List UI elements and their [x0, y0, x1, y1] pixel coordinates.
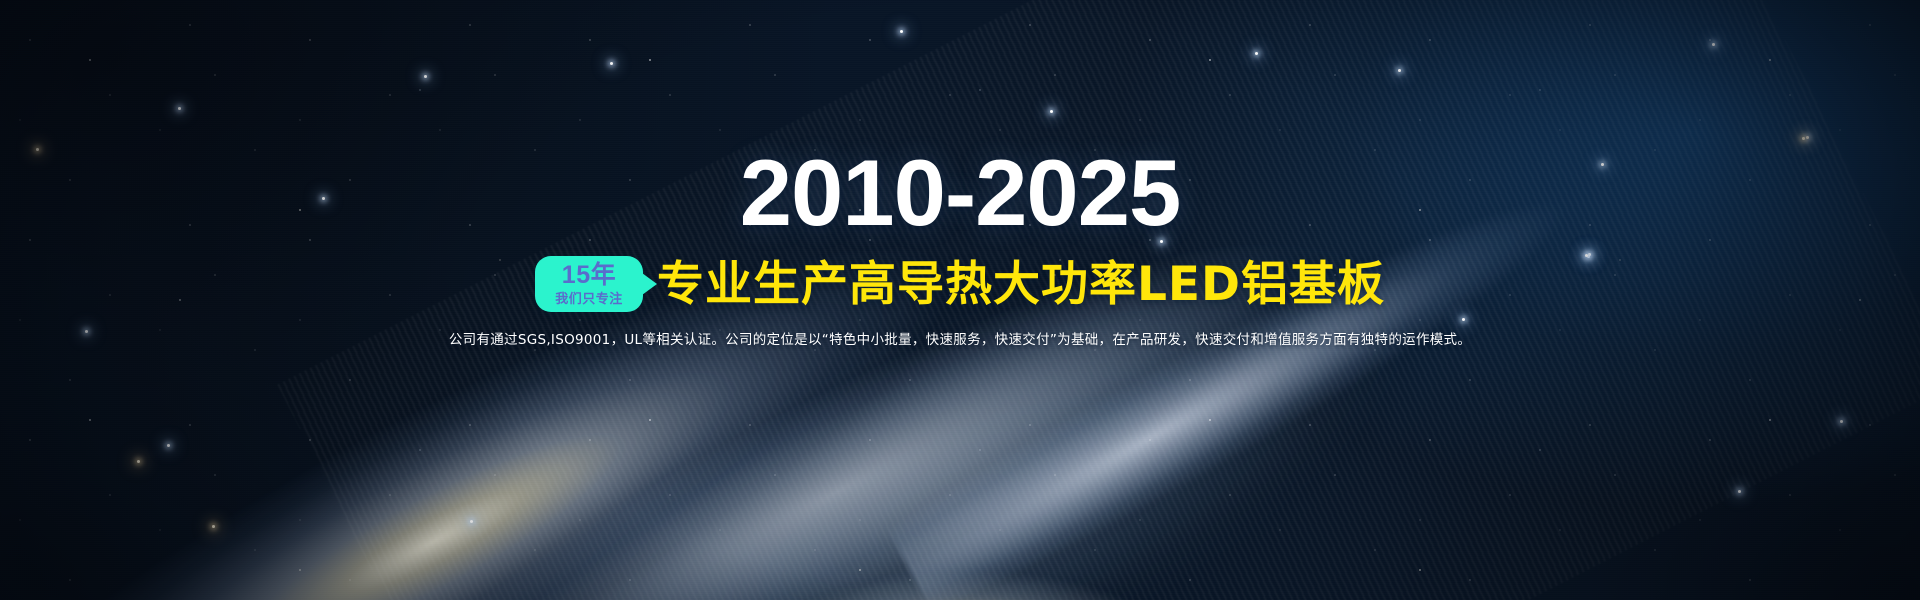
hero-banner: 2010-2025 15年 我们只专注 专业生产高导热大功率LED铝基板 公司有…	[0, 0, 1920, 600]
badge-years-label: 15年	[562, 263, 616, 288]
badge-slogan-label: 我们只专注	[555, 292, 623, 305]
badge-tail-arrow-icon	[642, 273, 657, 295]
banner-content: 2010-2025 15年 我们只专注 专业生产高导热大功率LED铝基板 公司有…	[0, 0, 1920, 600]
headline-text: 专业生产高导热大功率LED铝基板	[657, 261, 1385, 308]
headline-row: 15年 我们只专注 专业生产高导热大功率LED铝基板	[535, 256, 1385, 312]
description-text: 公司有通过SGS,ISO9001，UL等相关认证。公司的定位是以“特色中小批量，…	[449, 330, 1471, 352]
experience-badge: 15年 我们只专注	[535, 256, 643, 312]
years-title: 2010-2025	[740, 146, 1181, 240]
